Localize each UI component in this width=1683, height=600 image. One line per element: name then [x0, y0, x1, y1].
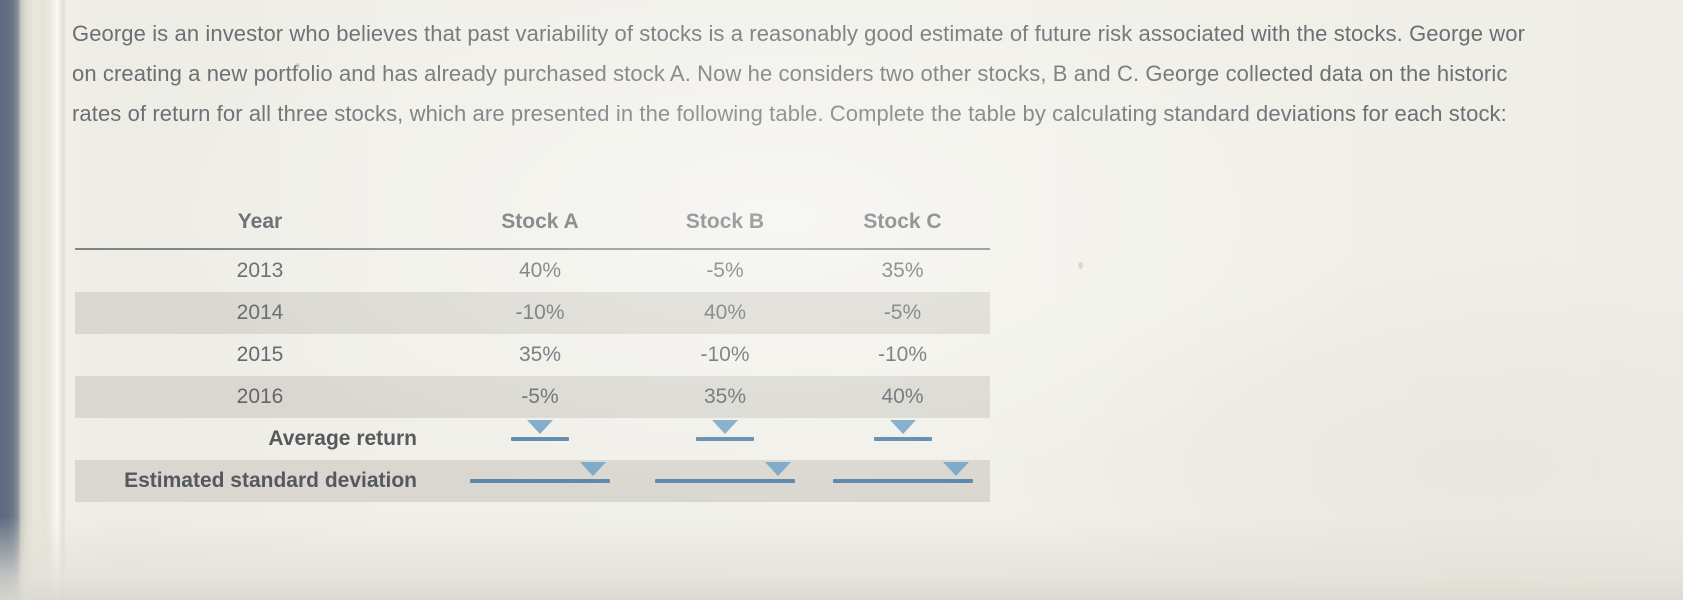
average-return-row: Average return — [75, 418, 990, 460]
table-body: 2013 40% -5% 35% 2014 -10% 40% -5% 2015 … — [75, 249, 990, 502]
table-row: 2013 40% -5% 35% — [75, 249, 990, 292]
chevron-down-icon[interactable] — [943, 462, 969, 476]
cell-stock-c: 40% — [815, 376, 990, 418]
average-return-cell-stock-c — [815, 418, 990, 460]
average-return-input-stock-a[interactable] — [511, 437, 569, 441]
standard-deviation-input-stock-b[interactable] — [655, 479, 795, 483]
column-header-stock-c: Stock C — [815, 210, 990, 249]
chevron-down-icon[interactable] — [527, 420, 553, 434]
average-return-input-stock-c[interactable] — [874, 437, 932, 441]
input-underline — [696, 437, 754, 441]
standard-deviation-input-stock-c[interactable] — [833, 479, 973, 483]
standard-deviation-input-stock-a[interactable] — [470, 479, 610, 483]
standard-deviation-cell-stock-a — [445, 460, 635, 502]
cell-year: 2013 — [75, 249, 445, 292]
chevron-down-icon[interactable] — [765, 462, 791, 476]
cell-stock-b: 40% — [635, 292, 815, 334]
standard-deviation-cell-stock-b — [635, 460, 815, 502]
average-return-cell-stock-b — [635, 418, 815, 460]
table-header-row: Year Stock A Stock B Stock C — [75, 210, 990, 249]
cell-stock-c: 35% — [815, 249, 990, 292]
table-row: 2014 -10% 40% -5% — [75, 292, 990, 334]
chevron-down-icon[interactable] — [712, 420, 738, 434]
cell-stock-b: -5% — [635, 249, 815, 292]
cell-stock-b: -10% — [635, 334, 815, 376]
returns-table: Year Stock A Stock B Stock C 2013 40% -5… — [75, 210, 990, 502]
cell-year: 2014 — [75, 292, 445, 334]
cell-stock-a: 35% — [445, 334, 635, 376]
cell-stock-a: -10% — [445, 292, 635, 334]
input-underline — [833, 479, 973, 483]
average-return-cell-stock-a — [445, 418, 635, 460]
average-return-label: Average return — [75, 418, 445, 460]
prompt-line-1: George is an investor who believes that … — [72, 14, 1683, 54]
standard-deviation-label: Estimated standard deviation — [75, 460, 445, 502]
prompt-line-2: on creating a new portfolio and has alre… — [72, 54, 1683, 94]
cell-stock-b: 35% — [635, 376, 815, 418]
chevron-down-icon[interactable] — [890, 420, 916, 434]
prompt-line-3: rates of return for all three stocks, wh… — [72, 94, 1683, 134]
standard-deviation-row: Estimated standard deviation — [75, 460, 990, 502]
returns-table-container: Year Stock A Stock B Stock C 2013 40% -5… — [75, 210, 990, 502]
input-underline — [874, 437, 932, 441]
cell-stock-a: 40% — [445, 249, 635, 292]
average-return-input-stock-b[interactable] — [696, 437, 754, 441]
table-header: Year Stock A Stock B Stock C — [75, 210, 990, 249]
cell-stock-c: -10% — [815, 334, 990, 376]
cell-year: 2015 — [75, 334, 445, 376]
cell-year: 2016 — [75, 376, 445, 418]
question-prompt: George is an investor who believes that … — [72, 14, 1683, 134]
column-header-stock-a: Stock A — [445, 210, 635, 249]
cell-stock-c: -5% — [815, 292, 990, 334]
column-header-stock-b: Stock B — [635, 210, 815, 249]
column-header-year: Year — [75, 210, 445, 249]
table-row: 2016 -5% 35% 40% — [75, 376, 990, 418]
input-underline — [655, 479, 795, 483]
chevron-down-icon[interactable] — [580, 462, 606, 476]
input-underline — [511, 437, 569, 441]
cell-stock-a: -5% — [445, 376, 635, 418]
standard-deviation-cell-stock-c — [815, 460, 990, 502]
input-underline — [470, 479, 610, 483]
table-row: 2015 35% -10% -10% — [75, 334, 990, 376]
